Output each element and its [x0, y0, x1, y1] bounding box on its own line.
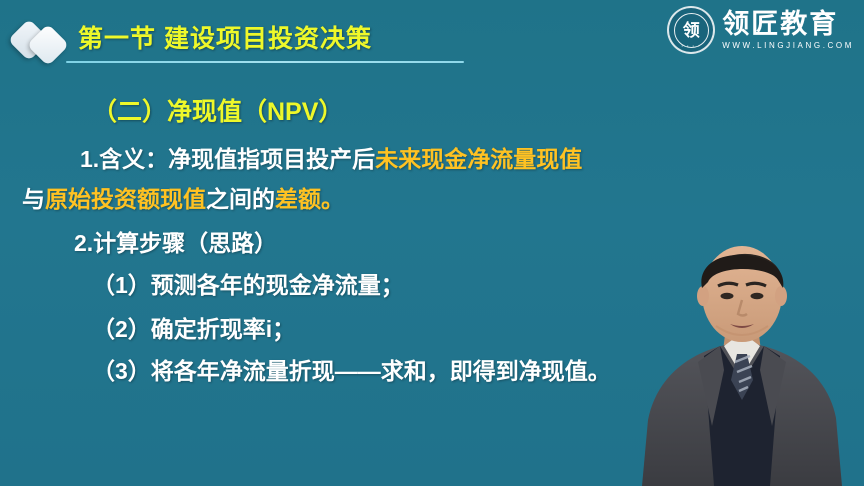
definition-highlight-difference: 差额。	[275, 186, 344, 212]
double-diamond-logo	[14, 20, 72, 62]
slide-header: 第一节 建设项目投资决策 领 • • • • 领匠教育 WWW.LINGJIAN…	[0, 0, 864, 72]
step-item-2: （2）确定折现率i；	[92, 310, 295, 344]
title-underline	[66, 61, 464, 63]
presenter-figure	[620, 230, 864, 486]
brand-text: 领匠教育 WWW.LINGJIANG.COM	[722, 10, 854, 50]
brand-name: 领匠教育	[722, 10, 854, 39]
brand-seal-icon: 领 • • • •	[667, 6, 715, 54]
step-item-3: （3）将各年净流量折现——求和，即得到净现值。	[92, 352, 611, 386]
eye-left	[721, 293, 734, 299]
brand-url: WWW.LINGJIANG.COM	[722, 41, 854, 50]
eye-right	[751, 293, 764, 299]
definition-text-with: 与	[22, 186, 45, 212]
page-title: 第一节 建设项目投资决策	[78, 19, 372, 55]
definition-highlight-initial-investment: 原始投资额现值	[45, 186, 206, 212]
content-heading-npv: （二）净现值（NPV）	[92, 92, 343, 128]
steps-heading: 2.计算步骤（思路）	[74, 224, 277, 258]
definition-text-between: 之间的	[206, 186, 275, 212]
brand-logo: 领 • • • • 领匠教育 WWW.LINGJIANG.COM	[667, 6, 854, 54]
brand-seal-dots: • • • •	[682, 43, 701, 48]
definition-line-2: 与原始投资额现值之间的差额。	[22, 180, 344, 214]
definition-highlight-future-cashflow: 未来现金净流量现值	[375, 146, 582, 172]
lecture-slide: 第一节 建设项目投资决策 领 • • • • 领匠教育 WWW.LINGJIAN…	[0, 0, 864, 486]
definition-text-lead: 1.含义：净现值指项目投产后	[80, 146, 375, 172]
definition-line-1: 1.含义：净现值指项目投产后未来现金净流量现值	[80, 140, 582, 174]
ear-left	[697, 286, 709, 306]
presenter-video-overlay	[620, 230, 864, 486]
step-item-1: （1）预测各年的现金净流量；	[92, 266, 404, 300]
ear-right	[775, 286, 787, 306]
